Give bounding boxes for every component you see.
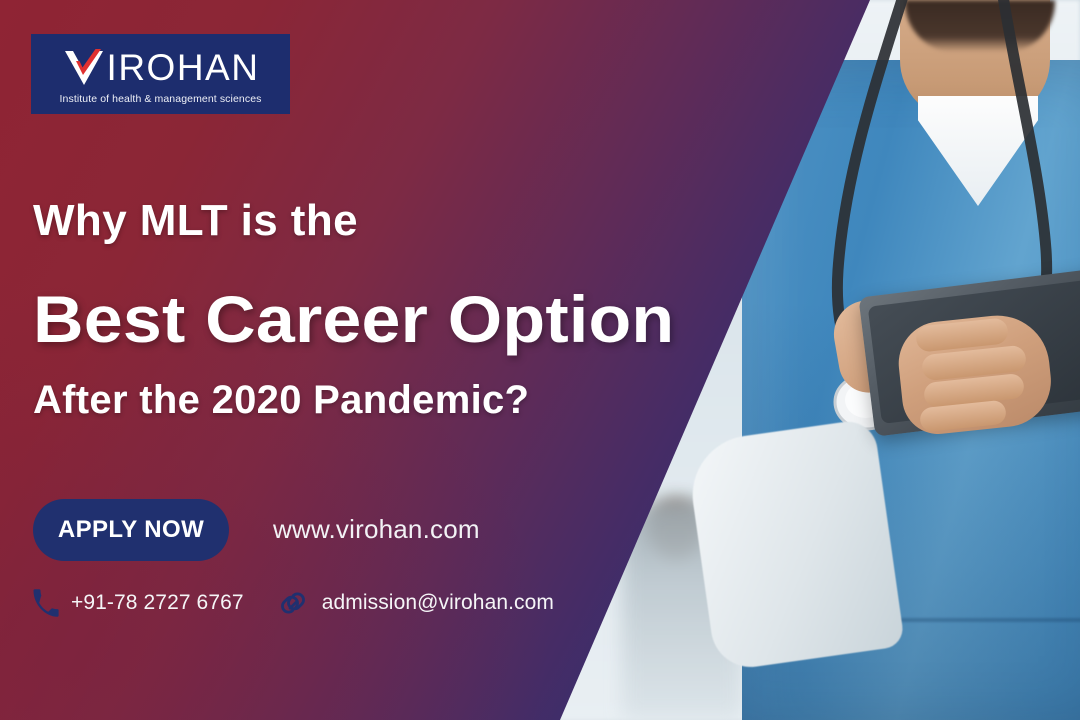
- website-url[interactable]: www.virohan.com: [273, 514, 480, 545]
- logo-tagline: Institute of health & management science…: [60, 93, 262, 105]
- logo-wordmark-text: IROHAN: [107, 49, 260, 86]
- headline-line-1: Why MLT is the: [33, 196, 358, 246]
- contact-row: +91-78 2727 6767 admission@virohan.com: [31, 588, 554, 618]
- logo-wordmark: IROHAN: [62, 46, 260, 90]
- email-address[interactable]: admission@virohan.com: [322, 591, 554, 615]
- promotional-banner: IROHAN Institute of health & management …: [0, 0, 1080, 720]
- phone-icon: [31, 588, 61, 618]
- apply-now-button[interactable]: APPLY NOW: [33, 499, 229, 561]
- link-icon: [278, 590, 308, 616]
- banner-content: IROHAN Institute of health & management …: [0, 0, 1080, 720]
- logo-v-check-icon: [62, 48, 106, 88]
- headline-line-3: After the 2020 Pandemic?: [33, 378, 529, 423]
- phone-number[interactable]: +91-78 2727 6767: [71, 591, 244, 615]
- virohan-logo: IROHAN Institute of health & management …: [31, 34, 290, 114]
- headline-line-2: Best Career Option: [33, 281, 674, 357]
